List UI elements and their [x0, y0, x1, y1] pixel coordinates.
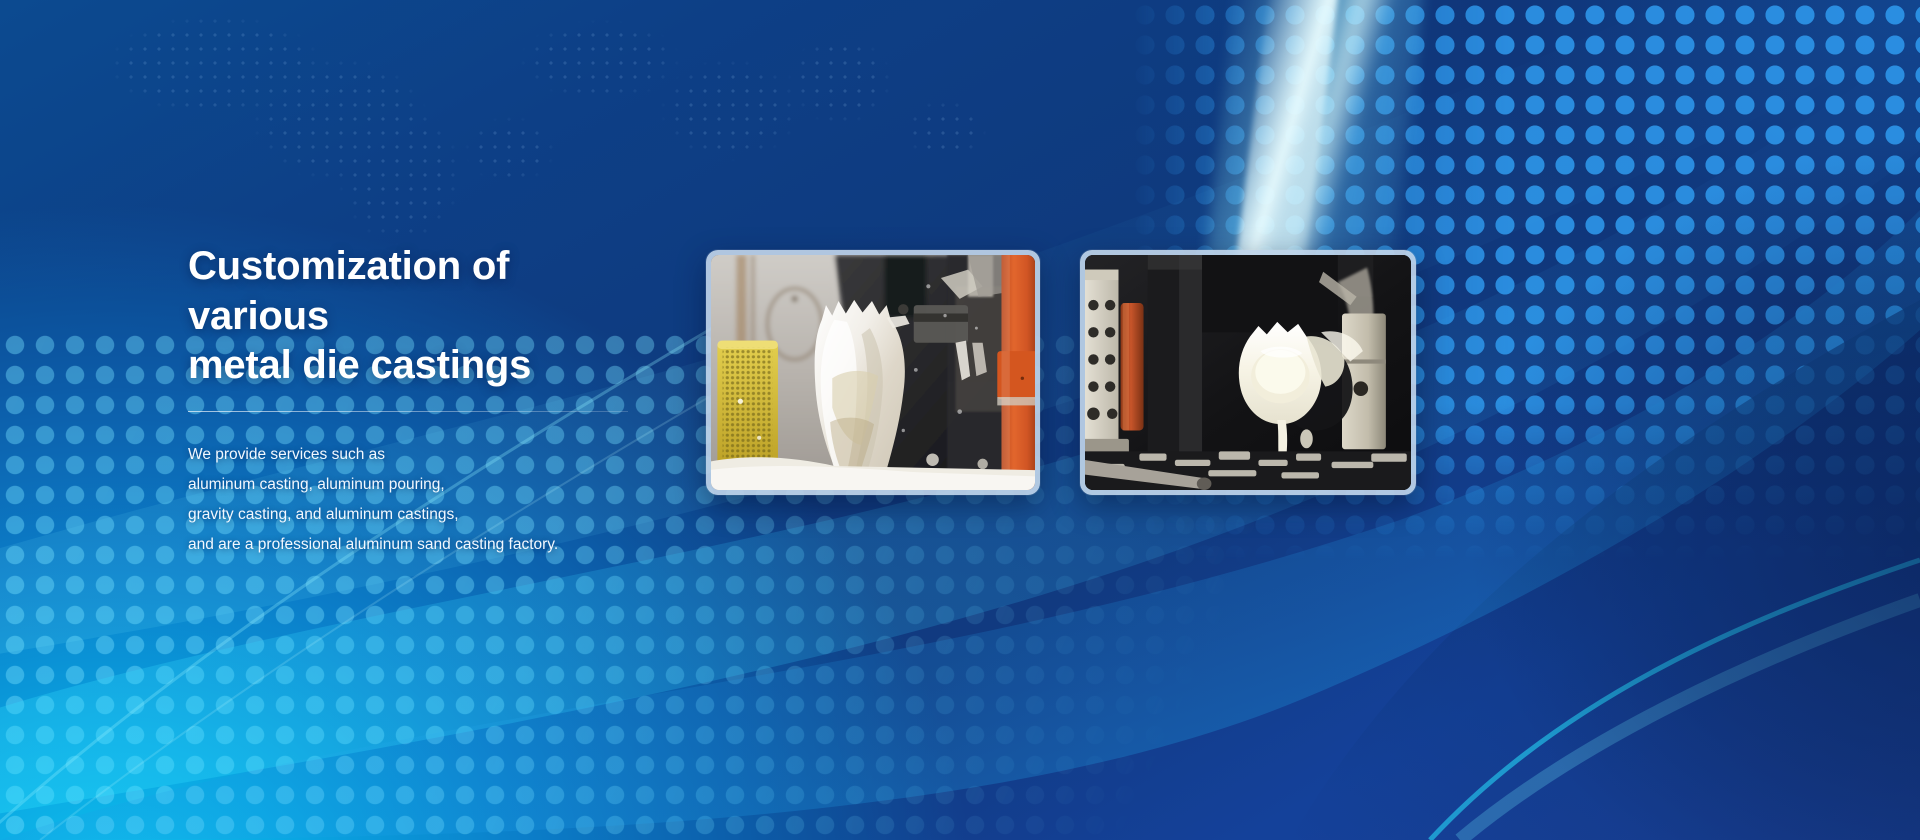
- banner-text-block: Customization of various metal die casti…: [188, 242, 658, 575]
- banner-subcopy: We provide services such as aluminum cas…: [188, 440, 658, 560]
- molten-metal-pouring-photo: [1085, 255, 1411, 490]
- photo-card-aluminum-ingot[interactable]: [706, 250, 1040, 495]
- photo-frame: [711, 255, 1035, 490]
- photo-card-molten-pour[interactable]: [1080, 250, 1416, 495]
- aluminum-ingot-casting-photo: [711, 255, 1035, 490]
- promo-banner: Customization of various metal die casti…: [0, 0, 1920, 840]
- photo-frame: [1085, 255, 1411, 490]
- headline-divider: [188, 411, 628, 412]
- banner-headline: Customization of various metal die casti…: [188, 242, 658, 391]
